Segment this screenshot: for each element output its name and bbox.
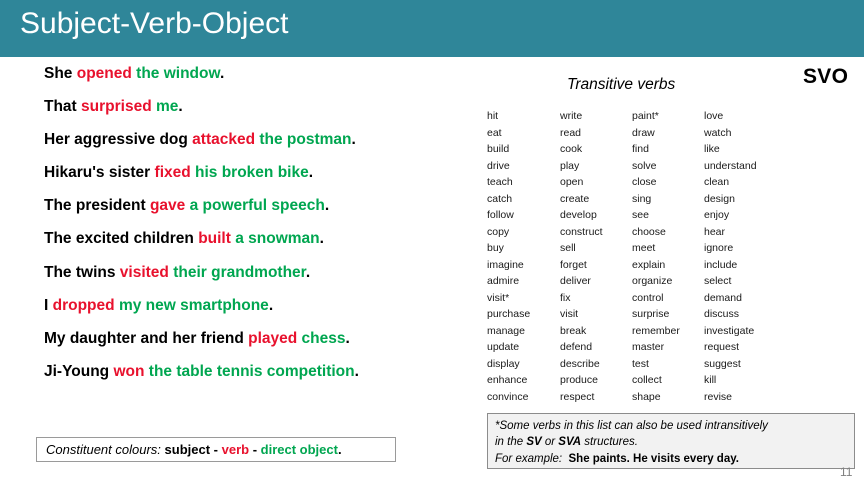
sentence-subject: That <box>44 98 81 115</box>
example-sentence: The twins visited their grandmother. <box>44 265 464 281</box>
verb-item: meet <box>632 240 704 257</box>
sentence-verb: played <box>248 330 301 347</box>
sentence-period: . <box>220 65 224 82</box>
svo-structure-label: SVO <box>803 65 848 89</box>
example-sentence: The excited children built a snowman. <box>44 231 464 247</box>
verb-item: kill <box>704 372 804 389</box>
verb-item: discuss <box>704 306 804 323</box>
verb-item: like <box>704 141 804 158</box>
sentence-subject: My daughter and her friend <box>44 330 248 347</box>
constituent-colours-box: Constituent colours: subject - verb - di… <box>36 437 396 462</box>
transitive-verb-columns: hiteatbuilddriveteachcatchfollowcopybuyi… <box>487 108 857 405</box>
verb-item: enjoy <box>704 207 804 224</box>
verb-item: suggest <box>704 356 804 373</box>
verb-item: love <box>704 108 804 125</box>
verb-item: understand <box>704 158 804 175</box>
verb-item: control <box>632 290 704 307</box>
verb-column-2: writereadcookplayopencreatedevelopconstr… <box>560 108 632 405</box>
verb-item: choose <box>632 224 704 241</box>
verb-item: defend <box>560 339 632 356</box>
verb-item: visit <box>560 306 632 323</box>
verb-item: open <box>560 174 632 191</box>
verb-item: convince <box>487 389 560 406</box>
verb-item: copy <box>487 224 560 241</box>
verb-item: request <box>704 339 804 356</box>
example-sentence: Her aggressive dog attacked the postman. <box>44 132 464 148</box>
verb-item: teach <box>487 174 560 191</box>
legend-dash-2: - <box>249 442 261 457</box>
sentence-verb: built <box>198 230 235 247</box>
sentence-verb: attacked <box>192 131 259 148</box>
verb-item: play <box>560 158 632 175</box>
footnote-line-2-or: or <box>542 436 559 448</box>
verb-item: manage <box>487 323 560 340</box>
verb-column-4: lovewatchlikeunderstandcleandesignenjoyh… <box>704 108 804 405</box>
sentence-subject: The president <box>44 197 150 214</box>
verb-item: respect <box>560 389 632 406</box>
constituent-colours-text: Constituent colours: subject - verb - di… <box>46 442 342 457</box>
verb-item: investigate <box>704 323 804 340</box>
sentence-direct-object: the table tennis competition <box>149 363 355 380</box>
verb-item: purchase <box>487 306 560 323</box>
footnote-sva-label: SVA <box>558 436 581 448</box>
verb-item: eat <box>487 125 560 142</box>
verb-item: surprise <box>632 306 704 323</box>
verb-item: visit* <box>487 290 560 307</box>
footnote-line-2-suffix: structures. <box>581 436 638 448</box>
sentence-direct-object: the postman <box>259 131 351 148</box>
sentence-period: . <box>345 330 349 347</box>
footnote-line-2: in the SV or SVA structures. <box>495 434 847 450</box>
sentence-direct-object: my new smartphone <box>119 297 269 314</box>
verb-item: master <box>632 339 704 356</box>
sentence-direct-object: his broken bike <box>195 164 309 181</box>
verb-item: shape <box>632 389 704 406</box>
verb-item: revise <box>704 389 804 406</box>
verb-item: fix <box>560 290 632 307</box>
page-number: 11 <box>840 465 852 479</box>
example-sentence-list: She opened the window.That surprised me.… <box>44 66 464 397</box>
example-sentence: Hikaru's sister fixed his broken bike. <box>44 165 464 181</box>
sentence-verb: visited <box>120 264 173 281</box>
footnote-example-sentences: She paints. He visits every day. <box>569 453 739 465</box>
sentence-period: . <box>309 164 313 181</box>
sentence-subject: The excited children <box>44 230 198 247</box>
footnote-line-1: *Some verbs in this list can also be use… <box>495 418 847 434</box>
footnote-line-1-text: *Some verbs in this list can also be use… <box>495 420 768 432</box>
sentence-verb: gave <box>150 197 190 214</box>
legend-dash-1: - <box>210 442 222 457</box>
verb-item: collect <box>632 372 704 389</box>
verb-item: forget <box>560 257 632 274</box>
sentence-subject: Hikaru's sister <box>44 164 155 181</box>
verb-item: demand <box>704 290 804 307</box>
verb-item: buy <box>487 240 560 257</box>
sentence-subject: I <box>44 297 53 314</box>
verb-item: watch <box>704 125 804 142</box>
sentence-period: . <box>178 98 182 115</box>
verb-item: select <box>704 273 804 290</box>
verb-item: see <box>632 207 704 224</box>
transitive-verbs-heading: Transitive verbs <box>567 76 675 94</box>
verb-item: ignore <box>704 240 804 257</box>
sentence-verb: dropped <box>53 297 119 314</box>
sentence-subject: Ji-Young <box>44 363 113 380</box>
legend-label: Constituent colours: <box>46 442 161 457</box>
example-sentence: The president gave a powerful speech. <box>44 198 464 214</box>
legend-verb: verb <box>222 442 249 457</box>
example-sentence: I dropped my new smartphone. <box>44 298 464 314</box>
verb-item: organize <box>632 273 704 290</box>
footnote-line-3: For example: She paints. He visits every… <box>495 451 847 467</box>
sentence-period: . <box>355 363 359 380</box>
verb-item: update <box>487 339 560 356</box>
footnote-line-2-prefix: in the <box>495 436 526 448</box>
verb-item: include <box>704 257 804 274</box>
sentence-subject: She <box>44 65 77 82</box>
verb-item: drive <box>487 158 560 175</box>
verb-item: cook <box>560 141 632 158</box>
verb-item: catch <box>487 191 560 208</box>
verb-item: explain <box>632 257 704 274</box>
footnote-box: *Some verbs in this list can also be use… <box>487 413 855 469</box>
verb-item: follow <box>487 207 560 224</box>
verb-item: paint* <box>632 108 704 125</box>
sentence-verb: won <box>113 363 148 380</box>
verb-item: remember <box>632 323 704 340</box>
verb-item: produce <box>560 372 632 389</box>
verb-item: display <box>487 356 560 373</box>
sentence-verb: opened <box>77 65 136 82</box>
sentence-direct-object: me <box>156 98 178 115</box>
verb-item: construct <box>560 224 632 241</box>
sentence-direct-object: chess <box>302 330 346 347</box>
verb-item: find <box>632 141 704 158</box>
legend-subject: subject <box>165 442 211 457</box>
verb-item: write <box>560 108 632 125</box>
verb-item: clean <box>704 174 804 191</box>
legend-period: . <box>338 442 342 457</box>
verb-item: close <box>632 174 704 191</box>
sentence-period: . <box>320 230 324 247</box>
sentence-period: . <box>325 197 329 214</box>
example-sentence: That surprised me. <box>44 99 464 115</box>
verb-item: hear <box>704 224 804 241</box>
sentence-period: . <box>269 297 273 314</box>
footnote-sv-label: SV <box>526 436 541 448</box>
verb-item: describe <box>560 356 632 373</box>
sentence-verb: fixed <box>155 164 195 181</box>
verb-item: imagine <box>487 257 560 274</box>
example-sentence: Ji-Young won the table tennis competitio… <box>44 364 464 380</box>
verb-column-3: paint*drawfindsolveclosesingseechoosemee… <box>632 108 704 405</box>
example-sentence: She opened the window. <box>44 66 464 82</box>
sentence-direct-object: the window <box>136 65 220 82</box>
verb-item: create <box>560 191 632 208</box>
sentence-subject: Her aggressive dog <box>44 131 192 148</box>
sentence-subject: The twins <box>44 264 120 281</box>
page-title: Subject-Verb-Object <box>20 7 288 41</box>
sentence-period: . <box>352 131 356 148</box>
verb-item: read <box>560 125 632 142</box>
verb-item: draw <box>632 125 704 142</box>
sentence-verb: surprised <box>81 98 156 115</box>
example-sentence: My daughter and her friend played chess. <box>44 331 464 347</box>
verb-item: enhance <box>487 372 560 389</box>
verb-item: deliver <box>560 273 632 290</box>
verb-item: sell <box>560 240 632 257</box>
verb-item: develop <box>560 207 632 224</box>
verb-item: hit <box>487 108 560 125</box>
legend-direct-object: direct object <box>261 442 338 457</box>
sentence-direct-object: a powerful speech <box>190 197 325 214</box>
sentence-direct-object: their grandmother <box>173 264 306 281</box>
verb-item: build <box>487 141 560 158</box>
footnote-example-label: For example: <box>495 453 562 465</box>
verb-item: break <box>560 323 632 340</box>
verb-item: test <box>632 356 704 373</box>
verb-item: solve <box>632 158 704 175</box>
verb-item: admire <box>487 273 560 290</box>
sentence-period: . <box>306 264 310 281</box>
sentence-direct-object: a snowman <box>235 230 319 247</box>
verb-item: sing <box>632 191 704 208</box>
verb-item: design <box>704 191 804 208</box>
verb-column-1: hiteatbuilddriveteachcatchfollowcopybuyi… <box>487 108 560 405</box>
